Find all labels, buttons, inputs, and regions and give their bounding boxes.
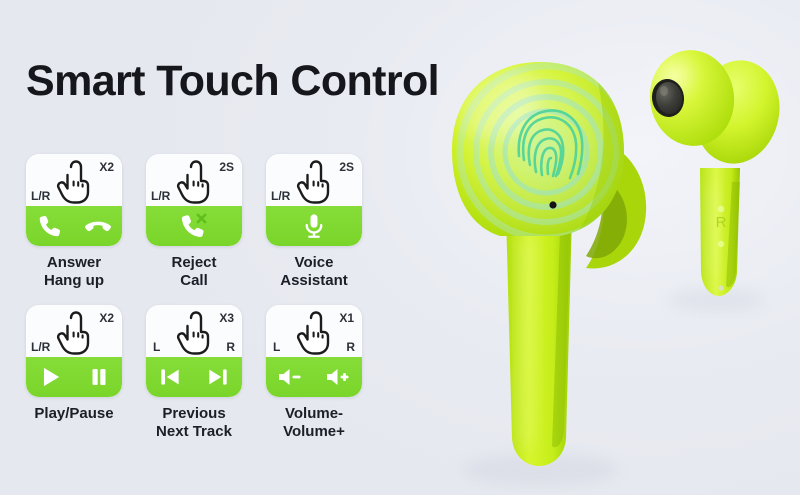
card-caption: Play/Pause bbox=[19, 405, 129, 423]
card-body[interactable]: X3 L R bbox=[146, 305, 242, 397]
charging-case bbox=[444, 55, 646, 466]
card-row-1: X2 L/R Answer Hang up bbox=[26, 154, 386, 291]
card-caption: Voice Assistant bbox=[259, 254, 369, 291]
repeat-badge: X2 bbox=[99, 161, 114, 173]
action-bar bbox=[26, 206, 122, 246]
next-track-icon bbox=[205, 364, 231, 390]
card-voice-assistant[interactable]: 2S L/R Voice Assistant bbox=[266, 154, 386, 291]
caption-line-2: Assistant bbox=[259, 272, 369, 290]
card-body[interactable]: X2 L/R bbox=[26, 305, 122, 397]
hand-tap-icon bbox=[55, 310, 93, 356]
microphone-icon bbox=[300, 212, 328, 240]
volume-up-icon bbox=[324, 365, 352, 389]
caption-line-1: Reject bbox=[139, 254, 249, 272]
pause-icon bbox=[87, 365, 111, 389]
mic-hole bbox=[549, 201, 556, 208]
card-play-pause[interactable]: X2 L/R Play/Pause bbox=[26, 305, 146, 442]
previous-track-icon bbox=[157, 364, 183, 390]
card-body[interactable]: X1 L R bbox=[266, 305, 362, 397]
hand-tap-icon bbox=[175, 159, 213, 205]
repeat-badge: X2 bbox=[99, 312, 114, 324]
caption-line-1: Voice bbox=[259, 254, 369, 272]
hand-tap-icon bbox=[295, 159, 333, 205]
caption-line-2: Call bbox=[139, 272, 249, 290]
earbud-tip-contact bbox=[718, 285, 723, 290]
caption-line-1: Answer bbox=[19, 254, 129, 272]
contact-dot-top bbox=[718, 206, 724, 212]
caption-line-2: Hang up bbox=[19, 272, 129, 290]
phone-hangup-icon bbox=[84, 212, 112, 240]
card-volume[interactable]: X1 L R bbox=[266, 305, 386, 442]
card-answer-hangup[interactable]: X2 L/R Answer Hang up bbox=[26, 154, 146, 291]
card-caption: Previous Next Track bbox=[139, 405, 249, 442]
side-label-right: R bbox=[226, 341, 235, 353]
card-body[interactable]: 2S L/R bbox=[146, 154, 242, 246]
repeat-badge: X3 bbox=[219, 312, 234, 324]
caption-line-2: Next Track bbox=[139, 423, 249, 441]
side-label: L/R bbox=[31, 190, 50, 202]
action-bar bbox=[26, 357, 122, 397]
action-bar bbox=[146, 206, 242, 246]
hand-tap-icon bbox=[175, 310, 213, 356]
right-earbud: R bbox=[644, 45, 789, 296]
repeat-badge: X1 bbox=[339, 312, 354, 324]
card-previous-next-track[interactable]: X3 L R Previous bbox=[146, 305, 266, 442]
card-caption: Volume- Volume+ bbox=[259, 405, 369, 442]
play-icon bbox=[38, 364, 64, 390]
touch-control-grid: X2 L/R Answer Hang up bbox=[26, 154, 386, 441]
infographic-canvas: R Smart Touch Control X2 L/R bbox=[0, 0, 800, 495]
card-row-2: X2 L/R Play/Pause bbox=[26, 305, 386, 442]
caption-line-1: Previous bbox=[139, 405, 249, 423]
side-label-right: R bbox=[346, 341, 355, 353]
side-label: L/R bbox=[151, 190, 170, 202]
action-bar bbox=[146, 357, 242, 397]
phone-answer-icon bbox=[37, 213, 63, 239]
caption-line-1: Volume- bbox=[259, 405, 369, 423]
caption-line-2: Volume+ bbox=[259, 423, 369, 441]
card-body[interactable]: 2S L/R bbox=[266, 154, 362, 246]
contact-dot-bottom bbox=[718, 241, 724, 247]
hand-tap-icon bbox=[55, 159, 93, 205]
page-title: Smart Touch Control bbox=[26, 57, 439, 106]
repeat-badge: 2S bbox=[339, 161, 354, 173]
earbud-r-marking: R bbox=[716, 214, 727, 231]
volume-down-icon bbox=[276, 365, 304, 389]
side-label: L/R bbox=[271, 190, 290, 202]
side-label-left: L bbox=[273, 341, 280, 353]
grille-highlight bbox=[660, 86, 668, 96]
caption-line-1: Play/Pause bbox=[19, 405, 129, 423]
side-label: L/R bbox=[31, 341, 50, 353]
card-caption: Answer Hang up bbox=[19, 254, 129, 291]
action-bar bbox=[266, 206, 362, 246]
phone-reject-icon bbox=[179, 211, 209, 241]
action-bar bbox=[266, 357, 362, 397]
hand-tap-icon bbox=[295, 310, 333, 356]
card-reject-call[interactable]: 2S L/R Reject Call bbox=[146, 154, 266, 291]
repeat-badge: 2S bbox=[219, 161, 234, 173]
card-body[interactable]: X2 L/R bbox=[26, 154, 122, 246]
card-caption: Reject Call bbox=[139, 254, 249, 291]
side-label-left: L bbox=[153, 341, 160, 353]
